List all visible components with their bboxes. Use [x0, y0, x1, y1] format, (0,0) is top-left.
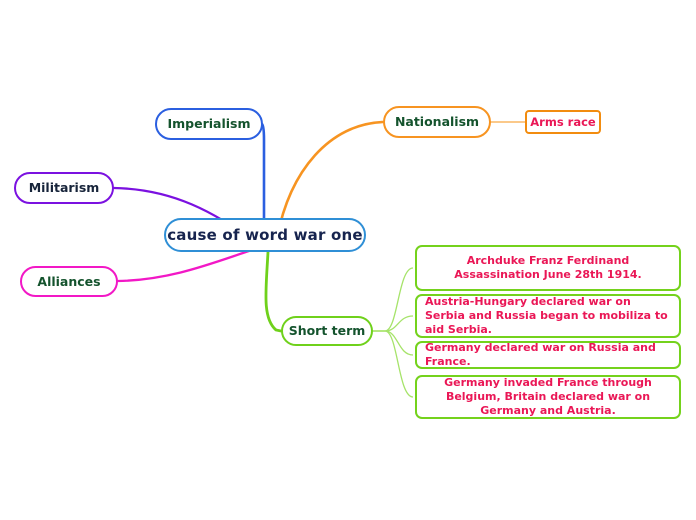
node-militarism[interactable]: Militarism [14, 172, 114, 204]
leaf-node-assassination[interactable]: Archduke Franz Ferdinand Assassination J… [415, 245, 681, 291]
node-short-term[interactable]: Short term [281, 316, 373, 346]
leaf-node-germany-declared-war[interactable]: Germany declared war on Russia and Franc… [415, 341, 681, 369]
mindmap-canvas: cause of word war one Imperialism Milita… [0, 0, 696, 520]
connector-alliances [118, 250, 252, 281]
leaf-node-austria-hungary[interactable]: Austria-Hungary declared war on Serbia a… [415, 294, 681, 338]
node-arms-race[interactable]: Arms race [525, 110, 601, 134]
connector-leaf-0 [373, 268, 413, 331]
node-alliances[interactable]: Alliances [20, 266, 118, 297]
node-imperialism[interactable]: Imperialism [155, 108, 263, 140]
connector-short-term [266, 252, 281, 331]
leaf-node-germany-invaded-france[interactable]: Germany invaded France through Belgium, … [415, 375, 681, 419]
central-node[interactable]: cause of word war one [164, 218, 366, 252]
connector-leaf-3 [373, 331, 413, 397]
node-nationalism[interactable]: Nationalism [383, 106, 491, 138]
